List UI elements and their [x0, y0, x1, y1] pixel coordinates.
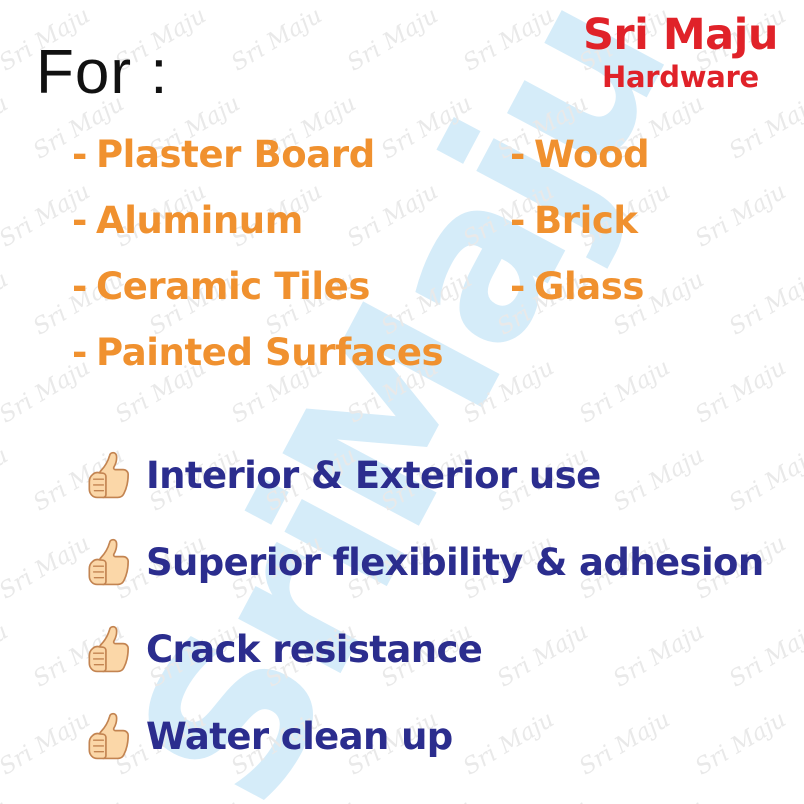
product-feature-poster: SriMaju Sri MajuSri MajuSri MajuSri Maju…	[0, 0, 804, 804]
list-item-label: Brick	[534, 199, 638, 242]
list-item-label: Aluminum	[96, 199, 303, 242]
list-item-label: Superior flexibility & adhesion	[146, 544, 764, 581]
list-item: -Painted Surfaces	[72, 320, 502, 386]
surfaces-list: -Plaster Board -Aluminum -Ceramic Tiles …	[0, 122, 804, 372]
list-item: -Aluminum	[72, 188, 502, 254]
list-item-label: Ceramic Tiles	[96, 265, 370, 308]
brand-name: Sri Maju	[583, 14, 778, 57]
bullet-dash: -	[72, 188, 87, 254]
list-item-label: Painted Surfaces	[96, 331, 443, 374]
list-item-label: Wood	[534, 133, 649, 176]
list-item: -Ceramic Tiles	[72, 254, 502, 320]
surfaces-column-right: -Wood -Brick -Glass	[510, 122, 790, 320]
list-item-label: Water clean up	[146, 718, 453, 755]
list-item-label: Glass	[534, 265, 644, 308]
bullet-dash: -	[510, 122, 525, 188]
benefits-list: Interior & Exterior use Superior flexibi…	[0, 432, 804, 780]
surfaces-column-left: -Plaster Board -Aluminum -Ceramic Tiles …	[72, 122, 502, 386]
bullet-dash: -	[72, 320, 87, 386]
thumbs-up-icon	[86, 624, 132, 676]
list-item: Water clean up	[0, 693, 804, 780]
page-title: For :	[36, 42, 168, 104]
bullet-dash: -	[510, 188, 525, 254]
list-item: -Plaster Board	[72, 122, 502, 188]
thumbs-up-icon	[86, 537, 132, 589]
list-item: -Brick	[510, 188, 790, 254]
brand-lockup: Sri Maju Hardware	[583, 14, 778, 92]
bullet-dash: -	[510, 254, 525, 320]
list-item: -Wood	[510, 122, 790, 188]
brand-subtitle: Hardware	[583, 63, 778, 92]
thumbs-up-icon	[86, 450, 132, 502]
list-item: -Glass	[510, 254, 790, 320]
thumbs-up-icon	[86, 711, 132, 763]
list-item: Superior flexibility & adhesion	[0, 519, 804, 606]
list-item-label: Plaster Board	[96, 133, 375, 176]
list-item: Crack resistance	[0, 606, 804, 693]
list-item: Interior & Exterior use	[0, 432, 804, 519]
bullet-dash: -	[72, 122, 87, 188]
bullet-dash: -	[72, 254, 87, 320]
list-item-label: Crack resistance	[146, 631, 482, 668]
list-item-label: Interior & Exterior use	[146, 457, 601, 494]
poster-content: Sri Maju Hardware For : -Plaster Board -…	[0, 0, 804, 804]
